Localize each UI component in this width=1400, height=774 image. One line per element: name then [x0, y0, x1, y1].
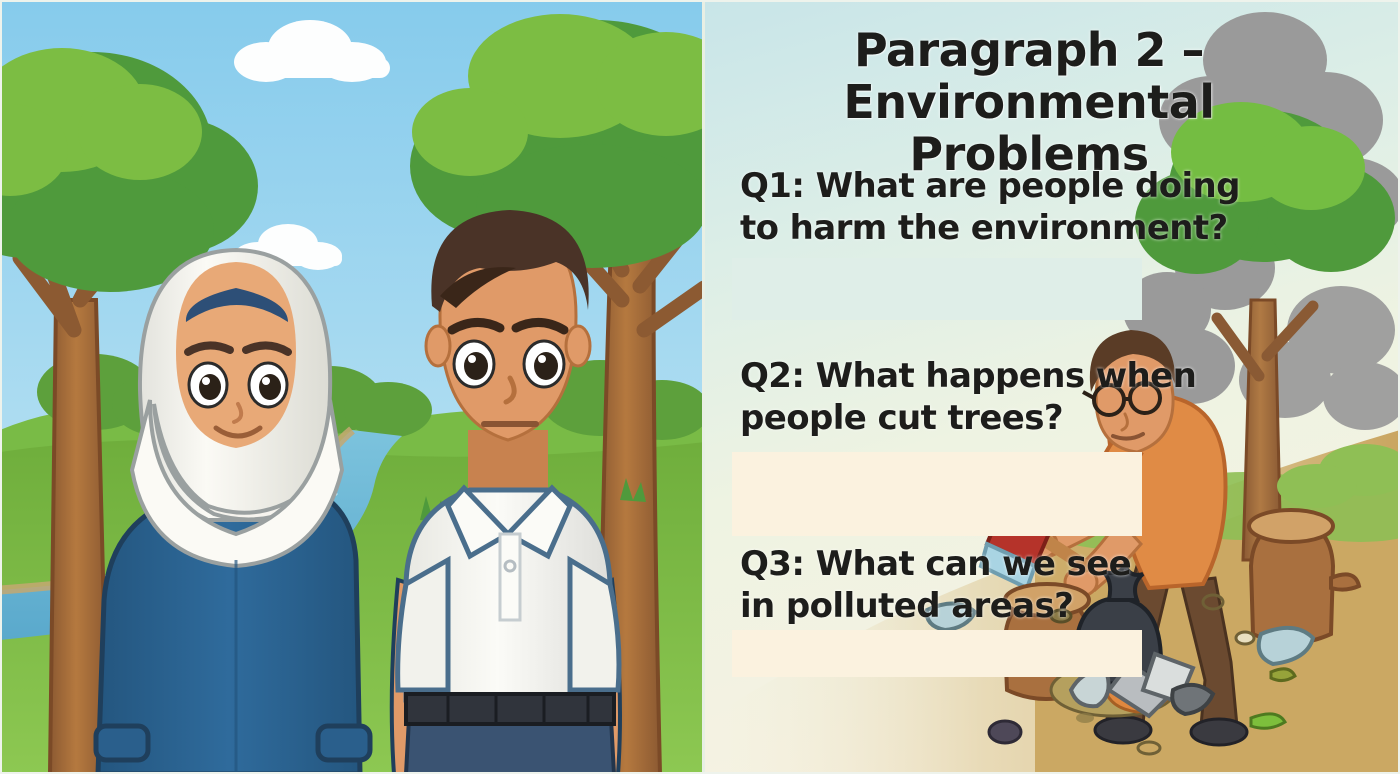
question-2-text: Q2: What happens when people cut trees?	[740, 355, 1210, 439]
worksheet-right-panel: Paragraph 2 – Environmental Problems Q1:…	[705, 0, 1400, 774]
question-3-answer-box[interactable]	[732, 630, 1142, 677]
illustration-left-panel	[0, 0, 705, 774]
page-title: Paragraph 2 – Environmental Problems	[719, 24, 1339, 180]
question-3-text: Q3: What can we see in polluted areas?	[740, 543, 1160, 627]
question-1-text: Q1: What are people doing to harm the en…	[740, 165, 1240, 249]
outdoor-scene-illustration	[0, 0, 705, 774]
worksheet-slide: Paragraph 2 – Environmental Problems Q1:…	[0, 0, 1400, 774]
question-2-answer-box[interactable]	[732, 452, 1142, 536]
question-1-answer-box[interactable]	[732, 258, 1142, 320]
